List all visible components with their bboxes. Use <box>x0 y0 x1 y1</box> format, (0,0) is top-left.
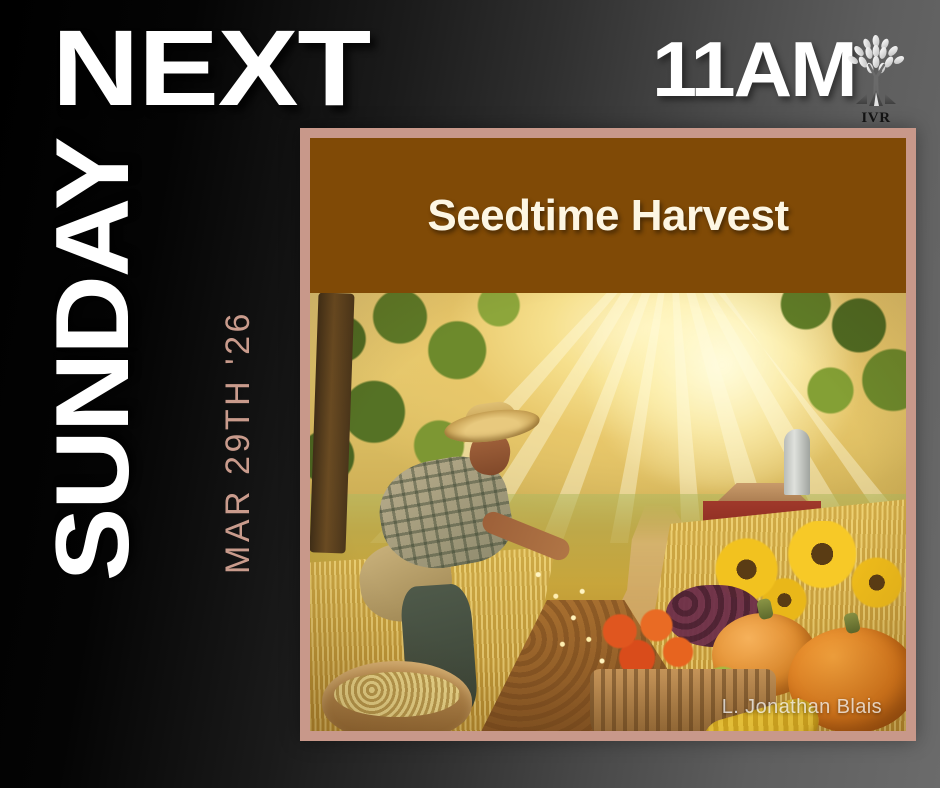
tree-logo-icon <box>843 32 909 112</box>
service-time-label: 11AM <box>652 30 856 108</box>
brand-logo: IVR <box>840 32 912 136</box>
artist-signature: L. Jonathan Blais <box>722 696 882 719</box>
series-artwork: L. Jonathan Blais <box>310 293 906 731</box>
straw-hat-brim <box>442 404 541 447</box>
poster-canvas: NEXT SUNDAY MAR 29TH '26 11AM <box>0 0 940 788</box>
sunday-headline: SUNDAY <box>41 115 145 581</box>
basket-seeds <box>334 672 460 717</box>
right-tree-foliage <box>726 293 906 485</box>
brand-logo-text: IVR <box>861 110 890 127</box>
silo-shape <box>784 429 810 495</box>
card-inner: Seedtime Harvest <box>310 138 906 731</box>
series-title-banner: Seedtime Harvest <box>310 138 906 293</box>
next-headline: NEXT <box>52 14 370 122</box>
event-date-label: MAR 29TH '26 <box>221 292 255 592</box>
seed-basket <box>322 661 472 731</box>
series-title-text: Seedtime Harvest <box>427 191 788 241</box>
sermon-series-card[interactable]: Seedtime Harvest <box>300 128 916 741</box>
